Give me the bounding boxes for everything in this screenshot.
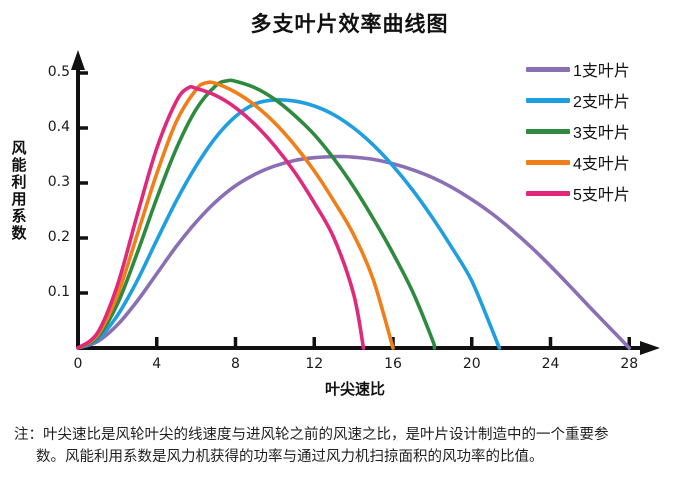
footnote-line-1: 注：叶尖速比是风轮叶尖的线速度与进风轮之前的风速之比，是叶片设计制造中的一个重要…	[14, 427, 609, 443]
x-axis-tick-label: 24	[539, 356, 563, 372]
legend-label: 1支叶片	[573, 57, 630, 81]
x-axis-tick-label: 28	[617, 356, 641, 372]
legend-item[interactable]: 4支叶片	[526, 149, 691, 175]
legend-color-swatch	[526, 129, 570, 134]
legend-item[interactable]: 5支叶片	[526, 180, 691, 206]
footnote-line-2: 数。风能利用系数是风力机获得的功率与通过风力机扫掠面积的风功率的比值。	[14, 446, 686, 468]
legend: 1支叶片2支叶片3支叶片4支叶片5支叶片	[526, 56, 691, 211]
legend-color-swatch	[526, 67, 570, 72]
x-axis-tick-label: 20	[460, 356, 484, 372]
x-axis-tick-label: 0	[66, 356, 90, 372]
y-axis-tick-label: 0.2	[36, 229, 70, 245]
footnote: 注：叶尖速比是风轮叶尖的线速度与进风轮之前的风速之比，是叶片设计制造中的一个重要…	[14, 424, 686, 468]
y-axis-arrow-icon	[71, 50, 85, 70]
legend-color-swatch	[526, 98, 570, 103]
legend-item[interactable]: 1支叶片	[526, 56, 691, 82]
legend-label: 5支叶片	[573, 181, 630, 205]
y-axis-tick-label: 0.1	[36, 284, 70, 300]
chart-container: 多支叶片效率曲线图 风能利用系数 叶尖速比 0.10.20.30.40.5 04…	[0, 0, 699, 481]
x-axis-tick-label: 4	[145, 356, 169, 372]
legend-label: 3支叶片	[573, 119, 630, 143]
y-axis-tick-label: 0.3	[36, 174, 70, 190]
y-axis-tick-label: 0.5	[36, 64, 70, 80]
legend-label: 4支叶片	[573, 150, 630, 174]
x-axis-arrow-icon	[640, 341, 660, 355]
legend-label: 2支叶片	[573, 88, 630, 112]
legend-color-swatch	[526, 160, 570, 165]
x-axis-tick-label: 12	[302, 356, 326, 372]
y-axis-tick-label: 0.4	[36, 119, 70, 135]
legend-item[interactable]: 3支叶片	[526, 118, 691, 144]
legend-item[interactable]: 2支叶片	[526, 87, 691, 113]
legend-color-swatch	[526, 191, 570, 196]
x-axis-tick-label: 8	[224, 356, 248, 372]
x-axis-tick-label: 16	[381, 356, 405, 372]
